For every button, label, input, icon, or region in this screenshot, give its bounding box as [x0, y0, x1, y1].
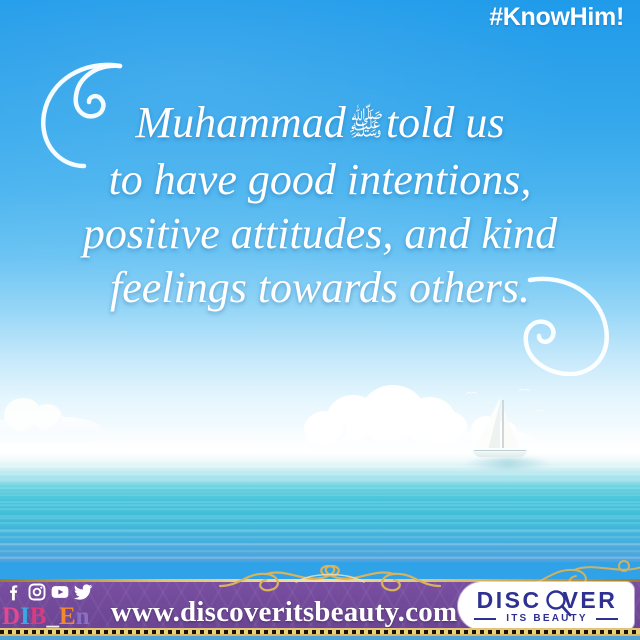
mainsail-shade — [488, 402, 500, 450]
footer-dashed-strip — [0, 628, 640, 636]
boat-reflection — [464, 458, 552, 469]
poster-canvas: #KnowHim! Muhammadﷺtold us to have good … — [0, 0, 640, 640]
logo-tagline: ITS BEAUTY — [472, 613, 622, 624]
quote-line-1-tail: told us — [386, 98, 505, 147]
social-handle: DIB_En — [2, 604, 90, 629]
boat-hull-line — [474, 450, 526, 451]
hashtag-label: #KnowHim! — [489, 3, 624, 32]
handle-letter: B — [30, 604, 47, 629]
sea-horizon-sheen — [0, 452, 640, 492]
jib-sail — [504, 410, 520, 450]
footer-banner: DIB_En www.discoveritsbeauty.com DISCVER… — [0, 568, 640, 640]
seagull-icon — [519, 389, 531, 395]
handle-letter: _ — [46, 604, 59, 629]
sailboat-illustration — [468, 398, 540, 464]
instagram-icon[interactable] — [27, 582, 47, 602]
handle-letter: I — [20, 604, 30, 629]
handle-letter: E — [59, 604, 76, 629]
quote-text: Muhammadﷺtold us to have good intentions… — [0, 96, 640, 315]
quote-line-2: to have good intentions, — [0, 153, 640, 207]
quote-line-4: feelings towards others. — [0, 261, 640, 315]
logo-word-before: DISC — [477, 587, 542, 613]
gold-filigree-ornament-icon — [210, 564, 450, 598]
facebook-icon[interactable] — [4, 582, 24, 602]
twitter-icon[interactable] — [73, 582, 93, 602]
youtube-icon[interactable] — [50, 582, 70, 602]
handle-letter: D — [2, 604, 20, 629]
handle-letter: n — [76, 604, 90, 629]
pbuh-calligraphy-icon: ﷺ — [346, 108, 386, 143]
quote-line-3: positive attitudes, and kind — [0, 207, 640, 261]
footer-bottom-edge — [0, 636, 640, 640]
social-icons[interactable] — [4, 582, 93, 602]
discover-its-beauty-logo[interactable]: DISCVER ITS BEAUTY — [458, 582, 634, 630]
quote-word-muhammad: Muhammad — [135, 98, 345, 147]
website-url[interactable]: www.discoveritsbeauty.com — [104, 596, 464, 629]
quote-line-1: Muhammadﷺtold us — [0, 96, 640, 153]
